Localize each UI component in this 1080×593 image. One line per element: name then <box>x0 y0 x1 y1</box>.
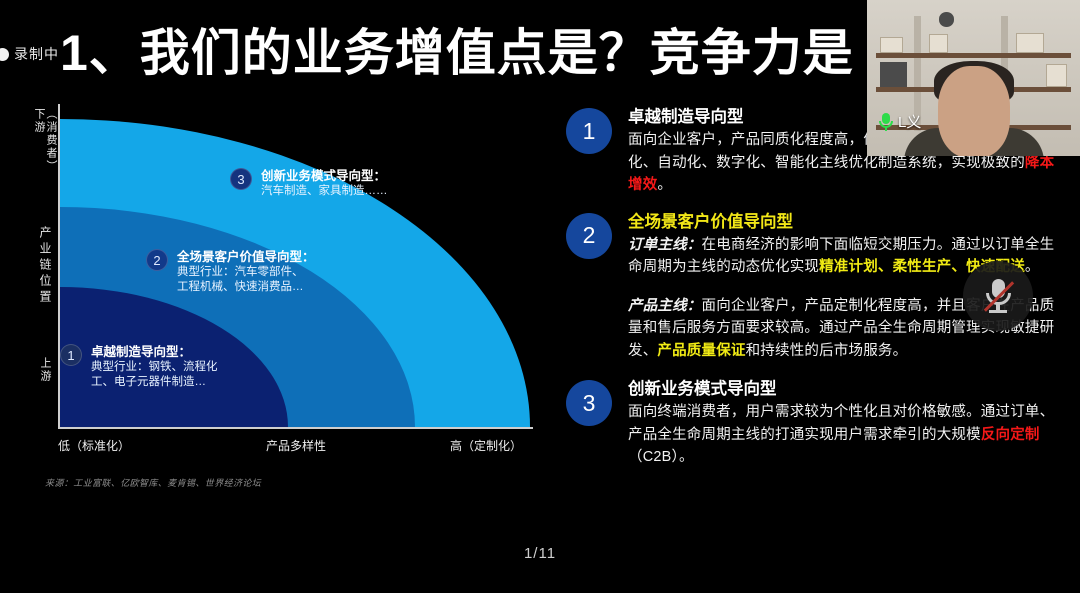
chart-legend-sub-1: 典型行业：钢铁、流程化工、电子元器件制造… <box>91 360 219 390</box>
chart-legend-title-3: 创新业务模式导向型： <box>261 168 388 184</box>
chart-badge-1: 1 <box>60 344 82 366</box>
chart-legend-item-2: 2 全场景客户价值导向型： 典型行业：汽车零部件、工程机械、快速消费品… <box>146 249 315 295</box>
paragraph-text: （C2B）。 <box>628 449 694 465</box>
paragraph-lead: 订单主线： <box>628 237 702 253</box>
mute-status-overlay[interactable] <box>963 261 1033 331</box>
paragraph-text: 和持续性的后市场服务。 <box>746 343 908 359</box>
paragraph-text: 产品质量保证 <box>657 343 745 359</box>
x-axis-title: 产品多样性 <box>266 437 326 454</box>
chart-legend-title-2: 全场景客户价值导向型： <box>177 249 315 265</box>
microphone-muted-icon <box>983 277 1013 315</box>
chart-x-axis <box>58 427 533 429</box>
section-3: 3 创新业务模式导向型 面向终端消费者，用户需求较为个性化且对价格敏感。通过订单… <box>566 378 1066 469</box>
chart-badge-2: 2 <box>146 249 168 271</box>
y-axis-label-consumer: （消费者） <box>44 108 57 173</box>
section-title-3: 创新业务模式导向型 <box>628 378 1066 401</box>
book-icon <box>1046 64 1067 87</box>
chart-legend-item-3: 3 创新业务模式导向型： 汽车制造、家具制造…… <box>230 168 388 199</box>
section-badge-3: 3 <box>566 380 612 426</box>
paragraph-text: 。 <box>1025 259 1040 275</box>
book-icon <box>880 37 903 53</box>
storage-box-icon <box>880 62 908 87</box>
participant-video-tile[interactable]: L义 <box>867 0 1080 156</box>
paragraph-lead: 产品主线： <box>628 298 702 314</box>
x-axis-tick-high: 高（定制化） <box>450 437 522 454</box>
paragraph-text: 。 <box>657 177 672 193</box>
value-orientation-chart: 下游 （消费者） 产业链位置 上游 低（标准化） 产品多样性 高（定制化） 3 … <box>18 104 538 444</box>
page-indicator: 1/11 <box>0 545 1080 562</box>
microphone-on-icon <box>879 113 893 131</box>
slide-title: 1、我们的业务增值点是？竞争力是 <box>60 22 854 84</box>
y-axis-label-upstream: 上游 <box>38 357 51 383</box>
presentation-screen: 录制中 1、我们的业务增值点是？竞争力是 下游 （消费者） 产业链位置 上游 低… <box>0 0 1080 593</box>
section-title-2: 全场景客户价值导向型 <box>628 211 1066 234</box>
chart-badge-3: 3 <box>230 168 252 190</box>
participant-name-label: L义 <box>879 111 921 132</box>
chart-legend-sub-2: 典型行业：汽车零部件、工程机械、快速消费品… <box>177 265 307 295</box>
section-paragraph-3: 面向终端消费者，用户需求较为个性化且对价格敏感。通过订单、产品全生命周期主线的打… <box>628 401 1066 469</box>
book-icon <box>929 34 948 53</box>
y-axis-label-title: 产业链位置 <box>38 226 51 306</box>
x-axis-tick-low: 低（标准化） <box>58 437 130 454</box>
clock-icon <box>939 12 954 26</box>
record-dot-icon <box>0 48 9 61</box>
chart-legend-title-1: 卓越制造导向型： <box>91 344 219 360</box>
chart-legend-item-1: 1 卓越制造导向型： 典型行业：钢铁、流程化工、电子元器件制造… <box>60 344 219 390</box>
paragraph-text: 反向定制 <box>981 427 1040 443</box>
book-icon <box>1016 33 1044 53</box>
recording-indicator: 录制中 <box>0 44 59 64</box>
participant-face <box>938 66 1010 156</box>
recording-label: 录制中 <box>14 44 59 64</box>
section-badge-1: 1 <box>566 108 612 154</box>
section-badge-2: 2 <box>566 213 612 259</box>
bookshelf-icon <box>876 53 1072 58</box>
chart-source-note: 来源：工业富联、亿欧智库、麦肯锡、世界经济论坛 <box>45 476 261 489</box>
participant-name-text: L义 <box>898 111 921 132</box>
chart-legend-sub-3: 汽车制造、家具制造…… <box>261 184 388 199</box>
